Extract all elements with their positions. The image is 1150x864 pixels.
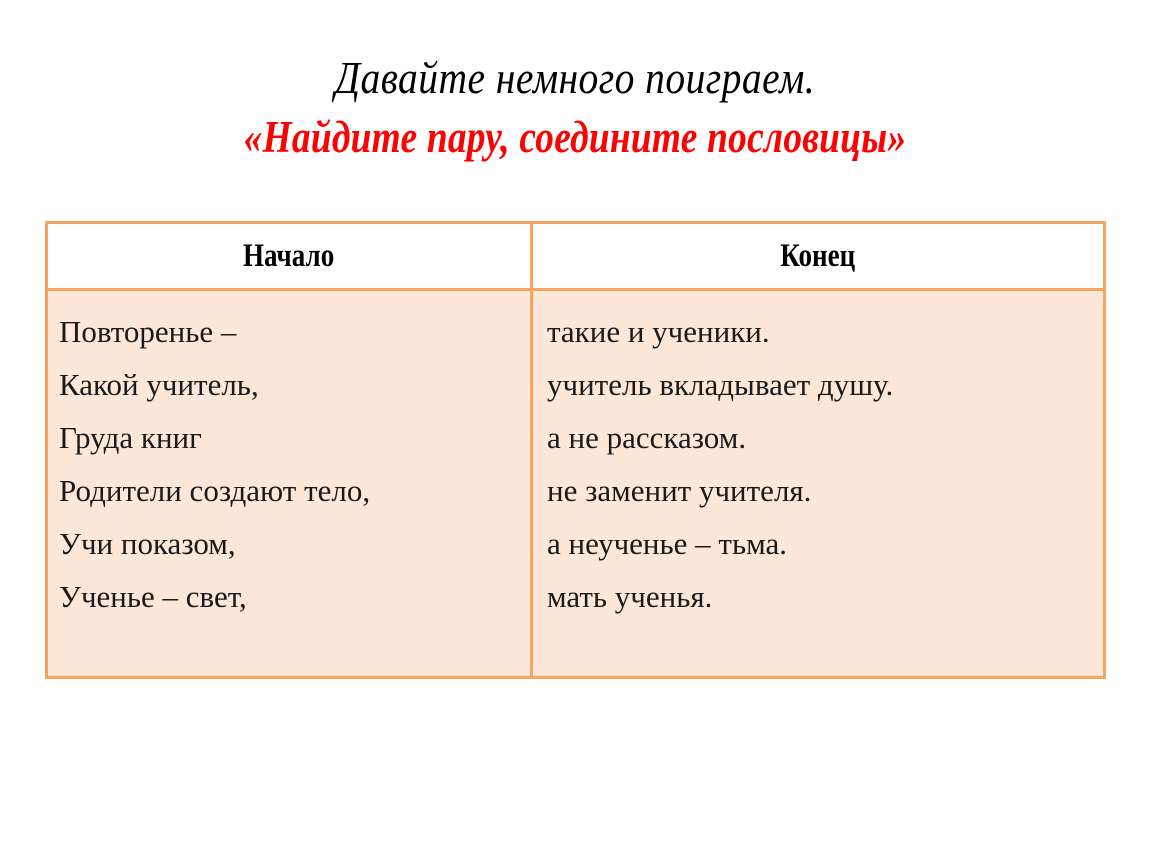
list-item[interactable]: Повторенье – — [59, 305, 520, 358]
cell-proverb-ends[interactable]: такие и ученики. учитель вкладывает душу… — [532, 290, 1105, 678]
column-header-end-label: Конец — [780, 238, 855, 275]
list-item[interactable]: а не рассказом. — [547, 411, 1093, 464]
table-header: Начало Конец — [47, 223, 1105, 290]
column-header-start-label: Начало — [243, 238, 334, 275]
table-header-row: Начало Конец — [47, 223, 1105, 290]
column-header-start: Начало — [47, 223, 532, 290]
cell-proverb-starts[interactable]: Повторенье – Какой учитель, Груда книг Р… — [47, 290, 532, 678]
list-item[interactable]: учитель вкладывает душу. — [547, 358, 1093, 411]
table-body: Повторенье – Какой учитель, Груда книг Р… — [47, 290, 1105, 678]
list-item[interactable]: не заменит учителя. — [547, 464, 1093, 517]
list-item[interactable]: Родители создают тело, — [59, 464, 520, 517]
title-line-primary: Давайте немного поиграем. — [81, 52, 1070, 104]
proverb-matching-table: Начало Конец Повторенье – Какой учитель,… — [45, 221, 1106, 679]
proverb-end-list: такие и ученики. учитель вкладывает душу… — [533, 291, 1103, 623]
list-item[interactable]: Груда книг — [59, 411, 520, 464]
proverb-start-list: Повторенье – Какой учитель, Груда книг Р… — [48, 291, 530, 623]
list-item[interactable]: такие и ученики. — [547, 305, 1093, 358]
list-item[interactable]: Какой учитель, — [59, 358, 520, 411]
title-line-secondary: «Найдите пару, соедините пословицы» — [98, 110, 1053, 164]
slide-title-block: Давайте немного поиграем. «Найдите пару,… — [0, 52, 1150, 164]
table-row: Повторенье – Какой учитель, Груда книг Р… — [47, 290, 1105, 678]
list-item[interactable]: а неученье – тьма. — [547, 517, 1093, 570]
column-header-end: Конец — [532, 223, 1105, 290]
list-item[interactable]: мать ученья. — [547, 570, 1093, 623]
list-item[interactable]: Ученье – свет, — [59, 570, 520, 623]
list-item[interactable]: Учи показом, — [59, 517, 520, 570]
